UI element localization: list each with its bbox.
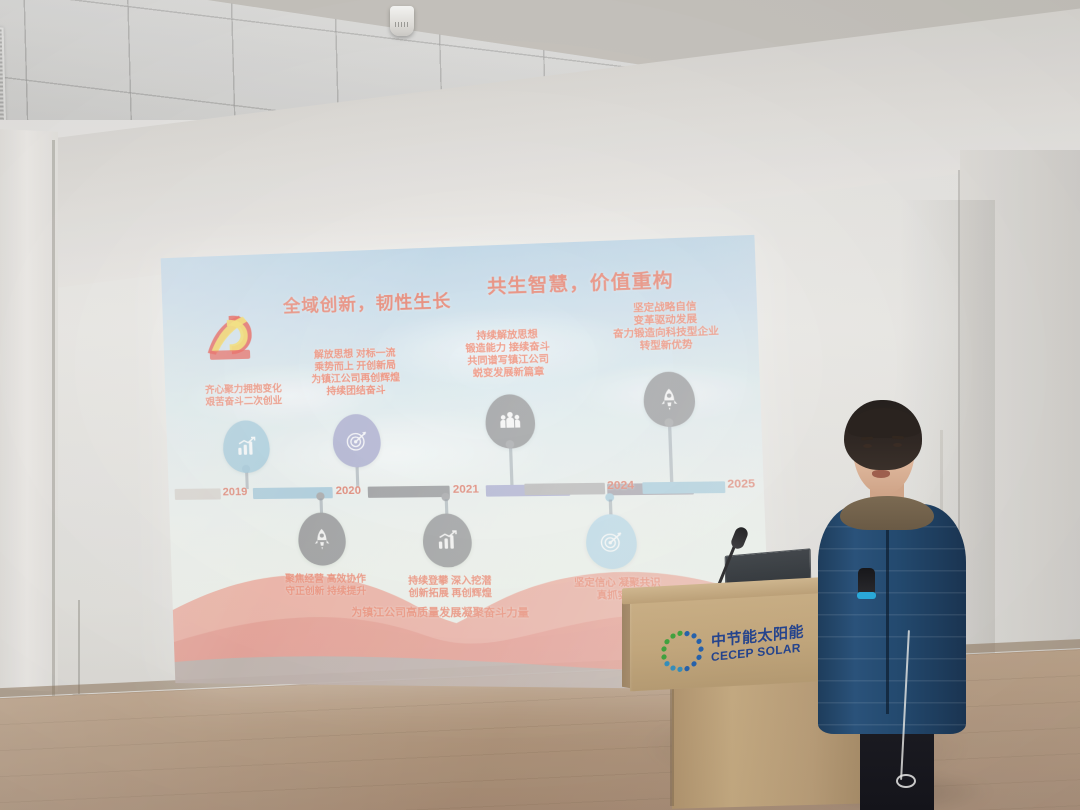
speaker-eye	[893, 443, 902, 447]
conference-room-scene: 全域创新，韧性生长 共生智慧，价值重构 齐心聚力拥抱变化 艰苦奋斗二次创业	[0, 0, 1080, 810]
node-label-2021: 解放思想 对标一流 乘势而上 开创新局 为镇江公司再创辉煌 持续团结奋斗	[272, 346, 440, 399]
axis-year-2024: 2024	[607, 479, 634, 492]
node-label-2022: 持续登攀 深入挖潜 创新拓展 再创辉煌	[371, 575, 531, 600]
slide-bottom-caption-1: 为镇江公司高质量发展凝聚奋斗力量	[351, 604, 529, 620]
speaker-mouth	[872, 470, 890, 478]
pillar-edge	[52, 140, 55, 700]
microphone-band	[857, 592, 876, 599]
jacket-zipper	[886, 524, 889, 714]
speaker-eye	[863, 444, 872, 448]
jacket-quilting	[818, 504, 966, 734]
node-dot-2025	[664, 418, 673, 427]
cpc-party-emblem-icon	[198, 307, 260, 363]
axis-segment	[642, 481, 725, 494]
bar-chart-growth-icon	[234, 434, 259, 459]
rocket-icon	[655, 386, 683, 412]
node-dot-2019	[242, 465, 250, 473]
node-bubble-2020	[297, 512, 346, 565]
inner-collar	[840, 496, 934, 530]
node-label-2023: 持续解放思想 锻造能力 接续奋斗 共同谱写镇江公司 蜕变发展新篇章	[427, 328, 590, 382]
team-people-icon	[497, 409, 524, 434]
podium-column-edge	[670, 678, 674, 806]
podium-logo-text: 中节能太阳能 CECEP SOLAR	[711, 623, 804, 664]
cecep-circular-dots-logo-icon	[660, 627, 704, 676]
left-wall-pillar	[0, 128, 58, 691]
node-dot-2021	[352, 459, 361, 467]
target-dart-icon	[344, 428, 370, 453]
node-bubble-2024	[585, 514, 638, 569]
smoke-detector-icon	[390, 6, 414, 36]
target-dart-icon	[598, 529, 625, 554]
axis-segment	[524, 483, 605, 495]
speaker-jacket	[818, 504, 966, 734]
node-label-2025: 坚定战略自信 变革驱动发展 奋力锻造向科技型企业 转型新优势	[572, 299, 761, 355]
bar-chart-growth-icon	[434, 528, 460, 553]
node-dot-2023	[505, 440, 514, 448]
podium-logo-plate: 中节能太阳能 CECEP SOLAR	[660, 610, 835, 678]
cable-loop	[896, 774, 916, 788]
speaker-eyebrow	[892, 436, 904, 439]
slide-title-left: 全域创新，韧性生长	[282, 286, 451, 317]
node-bubble-2022	[422, 513, 473, 567]
wall-cable	[78, 600, 80, 696]
rocket-icon	[309, 527, 335, 552]
axis-year-2025: 2025	[727, 478, 755, 491]
